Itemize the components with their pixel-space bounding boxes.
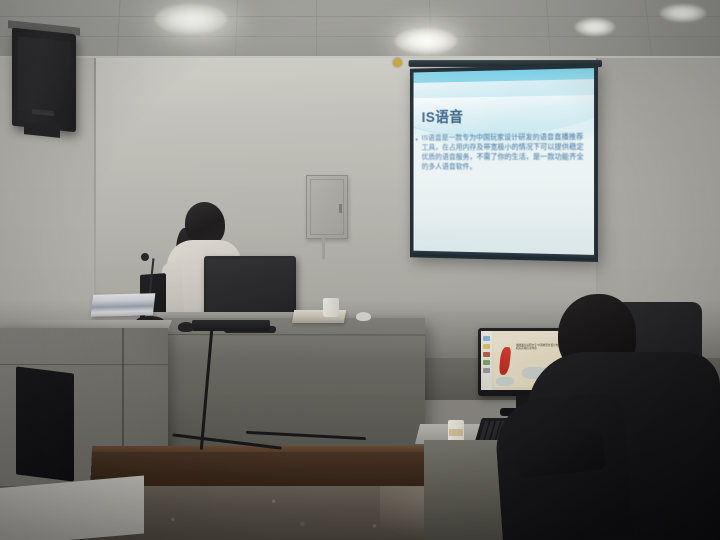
- cup-band: [449, 429, 463, 436]
- panel-conduit: [322, 237, 325, 259]
- microphone-head-icon: [141, 253, 149, 261]
- podium-mouse-icon[interactable]: [178, 322, 194, 332]
- ceiling-light-icon: [575, 18, 615, 36]
- toolbar-icon[interactable]: [483, 360, 490, 365]
- foreground-desk: [0, 475, 144, 540]
- map-highlight-shape: [499, 347, 511, 376]
- foreground-monitor[interactable]: [16, 366, 74, 481]
- projected-slide: IS语音 • IS语音是一款专为中国玩家设计研发的语音直播推荐工具，在占用内存及…: [414, 68, 595, 258]
- ceiling-light-icon: [395, 28, 457, 54]
- paper-cup-podium[interactable]: [323, 298, 339, 317]
- panel-handle[interactable]: [339, 204, 342, 213]
- viewer-sidebar[interactable]: [481, 331, 492, 390]
- projection-screen: IS语音 • IS语音是一款专为中国玩家设计研发的语音直播推荐工具，在占用内存及…: [410, 64, 598, 262]
- viewer-arm: [514, 426, 606, 479]
- podium-edge-line: [152, 334, 425, 336]
- cabinet-seam: [0, 364, 168, 365]
- white-mouse-icon[interactable]: [356, 312, 371, 321]
- classroom-photo: IS语音 • IS语音是一款专为中国玩家设计研发的语音直播推荐工具，在占用内存及…: [0, 0, 720, 540]
- ceiling: [0, 0, 720, 62]
- screen-pull-knob[interactable]: [393, 58, 402, 67]
- slide-bullet-icon: •: [415, 135, 418, 144]
- stack-of-papers[interactable]: [91, 293, 156, 317]
- podium-monitor-screen: [207, 259, 293, 312]
- podium-keyboard[interactable]: [192, 320, 270, 331]
- wall-electrical-panel: [306, 175, 348, 239]
- speaker-brand-badge: [32, 109, 54, 116]
- wall-speaker-icon: [12, 28, 76, 133]
- toolbar-icon[interactable]: [483, 344, 490, 349]
- toolbar-icon[interactable]: [483, 352, 490, 357]
- ceiling-light-icon: [660, 4, 706, 22]
- slide-body-text: IS语音是一款专为中国玩家设计研发的语音直播推荐工具，在占用内存及带宽极小的情况…: [422, 132, 585, 172]
- podium-monitor[interactable]: [204, 256, 296, 318]
- ceiling-light-icon: [155, 4, 227, 34]
- toolbar-icon[interactable]: [483, 368, 490, 373]
- toolbar-icon[interactable]: [483, 336, 490, 341]
- map-region: [496, 377, 514, 386]
- slide-title: IS语音: [422, 106, 464, 127]
